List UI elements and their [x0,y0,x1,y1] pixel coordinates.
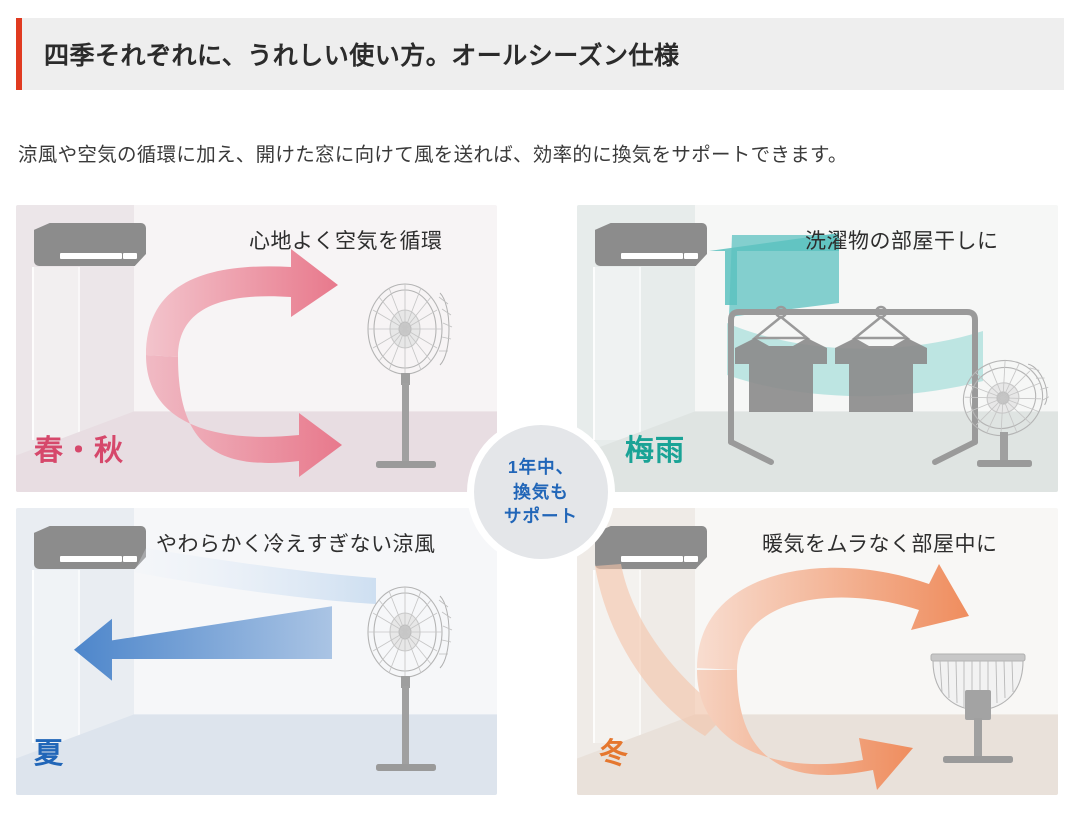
hanger-2 [835,307,927,412]
badge-line-2: 換気も [513,480,569,505]
badge-line-3: サポート [504,504,578,529]
badge-line-1: 1年中、 [508,455,574,480]
season-label: 春・秋 [34,427,124,469]
panel-caption: 心地よく空気を循環 [249,225,443,255]
hanger-1 [735,307,827,412]
center-badge: 1年中、 換気も サポート [474,425,608,559]
season-panel-summer: やわらかく冷えすぎない涼風 夏 [16,508,497,795]
season-panel-spring-autumn: 心地よく空気を循環 春・秋 [16,205,497,492]
season-label: 冬 [599,730,629,772]
section-header-bar: 四季それぞれに、うれしい使い方。オールシーズン仕様 [16,18,1064,90]
panel-caption: 暖気をムラなく部屋中に [762,528,997,558]
standing-fan-up-icon [913,648,1043,778]
season-label: 梅雨 [625,427,685,469]
panel-caption: 洗濯物の部屋干しに [805,225,999,255]
season-label: 夏 [34,730,64,772]
subtitle-text: 涼風や空気の循環に加え、開けた窓に向けて風を送れば、効率的に換気をサポートできま… [18,138,848,167]
page-title: 四季それぞれに、うれしい使い方。オールシーズン仕様 [22,36,680,72]
season-panel-rainy-season: 洗濯物の部屋干しに 梅雨 [577,205,1058,492]
desk-fan-icon [955,350,1058,480]
panel-caption: やわらかく冷えすぎない涼風 [156,528,436,558]
standing-fan-icon [360,277,470,482]
standing-fan-icon [360,580,470,785]
season-panel-winter: 暖気をムラなく部屋中に 冬 [577,508,1058,795]
